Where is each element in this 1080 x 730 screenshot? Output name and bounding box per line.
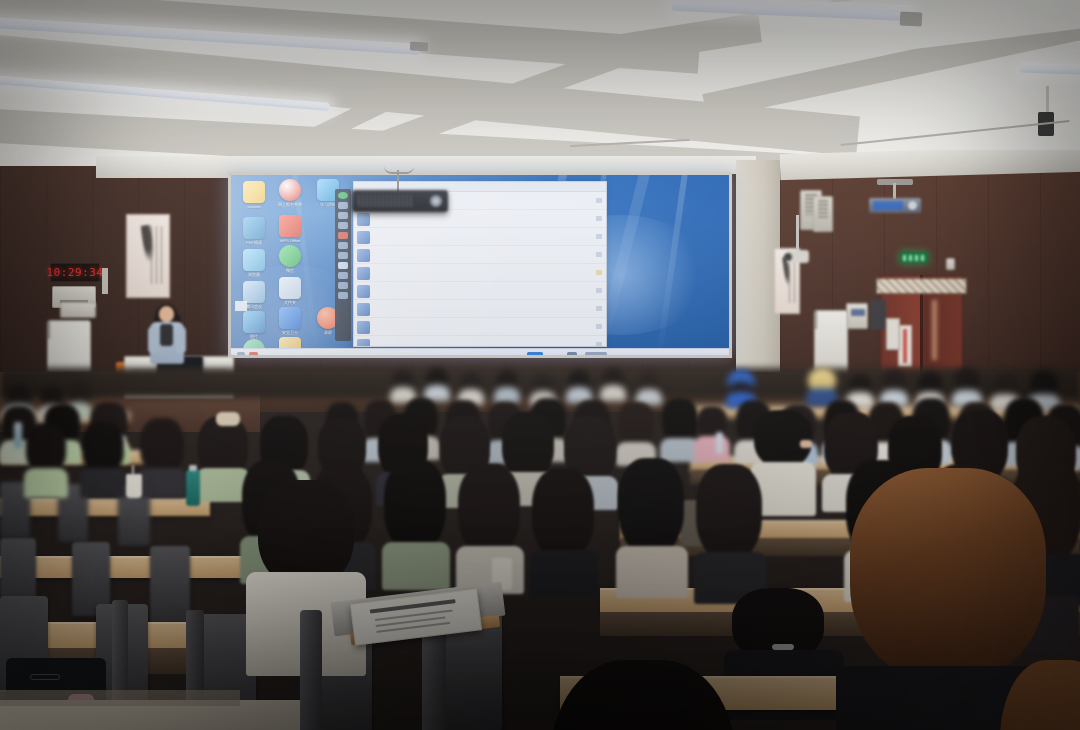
list-badge [596, 288, 602, 293]
drink-cup [126, 474, 142, 498]
desktop-icon[interactable]: 微信 [275, 245, 305, 273]
door-transom-grille [876, 278, 967, 294]
dock-icon-folder[interactable] [338, 222, 348, 229]
wall-scroll-left [126, 214, 170, 298]
water-bottle [14, 422, 22, 448]
wall-speaker-right [813, 196, 833, 232]
clock-time: 10:29:34 [47, 266, 104, 279]
list-badge [596, 234, 602, 239]
presenter [147, 306, 187, 364]
student-blonde [806, 368, 838, 404]
exit-sign [900, 252, 928, 263]
dock-icon-window[interactable] [338, 282, 348, 289]
windows-desktop[interactable]: Lenovo 网上报名系统 学习资料 PDF阅读 WPS Office 浏览器 [231, 175, 732, 358]
water-bottle [716, 432, 723, 454]
desktop-icon[interactable]: 图片 [239, 311, 269, 339]
desktop-icon[interactable]: 文件夹 [275, 277, 305, 305]
seat-frame [300, 610, 322, 730]
card-reader[interactable] [846, 303, 868, 329]
taskbar-clock[interactable] [585, 352, 607, 358]
desktop-icon[interactable]: PDF阅读 [239, 217, 269, 245]
front-projector [352, 190, 448, 212]
list-item[interactable] [354, 210, 606, 228]
start-button[interactable] [237, 352, 245, 358]
list-thumb [357, 303, 370, 316]
list-thumb [357, 339, 370, 347]
projector-hook [384, 166, 414, 174]
dock-icon-capture[interactable] [338, 272, 348, 279]
list-item[interactable] [354, 300, 606, 318]
list-item[interactable] [354, 264, 606, 282]
dock-icon-record[interactable] [338, 232, 348, 239]
list-item[interactable] [354, 282, 606, 300]
camera-rod [796, 215, 799, 251]
dock-icon-more[interactable] [338, 292, 348, 299]
dock-icon-music[interactable] [338, 202, 348, 209]
wall-pipe-left [102, 268, 108, 294]
list-item[interactable] [354, 246, 606, 264]
projection-screen[interactable]: Lenovo 网上报名系统 学习资料 PDF阅读 WPS Office 浏览器 [228, 172, 732, 358]
desktop-dock[interactable] [335, 189, 351, 341]
projector-rod-right [893, 183, 896, 199]
search-icon[interactable] [567, 352, 577, 358]
door-light-streak [932, 300, 937, 360]
list-thumb [357, 249, 370, 262]
wall-notice [886, 318, 900, 350]
dock-icon-settings[interactable] [338, 262, 348, 269]
microphone [164, 332, 168, 345]
desktop-icon[interactable]: 网上报名系统 [275, 179, 305, 207]
student-pink [694, 406, 730, 462]
list-thumb [357, 285, 370, 298]
taskbar-icon-app[interactable] [249, 352, 258, 358]
ceiling-projector-right [869, 198, 921, 213]
dock-icon-wechat[interactable] [338, 192, 348, 199]
desktop-icon[interactable]: WPS Office [275, 215, 305, 243]
student-blue-cap [726, 370, 756, 404]
taskbar-icon-explorer[interactable] [527, 352, 543, 358]
list-item[interactable] [354, 318, 606, 336]
desktop-icon[interactable]: Lenovo [239, 181, 269, 209]
windows-taskbar[interactable] [231, 348, 732, 358]
list-thumb [357, 231, 370, 244]
desktop-icon[interactable]: 浏览器 [239, 249, 269, 277]
list-thumb [357, 267, 370, 280]
audience [0, 360, 1080, 730]
list-item[interactable] [354, 228, 606, 246]
dock-icon-link[interactable] [338, 242, 348, 249]
list-badge [596, 198, 602, 203]
student-foreground-center [530, 660, 760, 730]
list-badge [596, 342, 602, 347]
desktop-icon[interactable]: 安全卫士 [275, 307, 305, 335]
list-thumb [357, 321, 370, 334]
dock-icon-cloud[interactable] [338, 212, 348, 219]
list-thumb [357, 213, 370, 226]
dock-icon-monitor[interactable] [338, 252, 348, 259]
wall-switch[interactable] [946, 258, 955, 270]
camera-lens-icon [784, 253, 792, 261]
list-badge [596, 306, 602, 311]
student-foreground-far-right [1000, 660, 1080, 730]
teal-water-bottle [186, 470, 200, 506]
list-badge [596, 324, 602, 329]
projector-rod [397, 170, 399, 192]
wall-dark-panel [870, 300, 886, 330]
ac-wall-box [60, 302, 96, 318]
list-badge-new [596, 270, 602, 275]
list-badge [596, 216, 602, 221]
list-badge [596, 252, 602, 257]
list-item[interactable] [354, 336, 606, 347]
led-wall-clock: 10:29:34 [50, 263, 100, 282]
lecture-hall-photo: 10:29:34 Lenovo 网上报名系统 [0, 0, 1080, 730]
